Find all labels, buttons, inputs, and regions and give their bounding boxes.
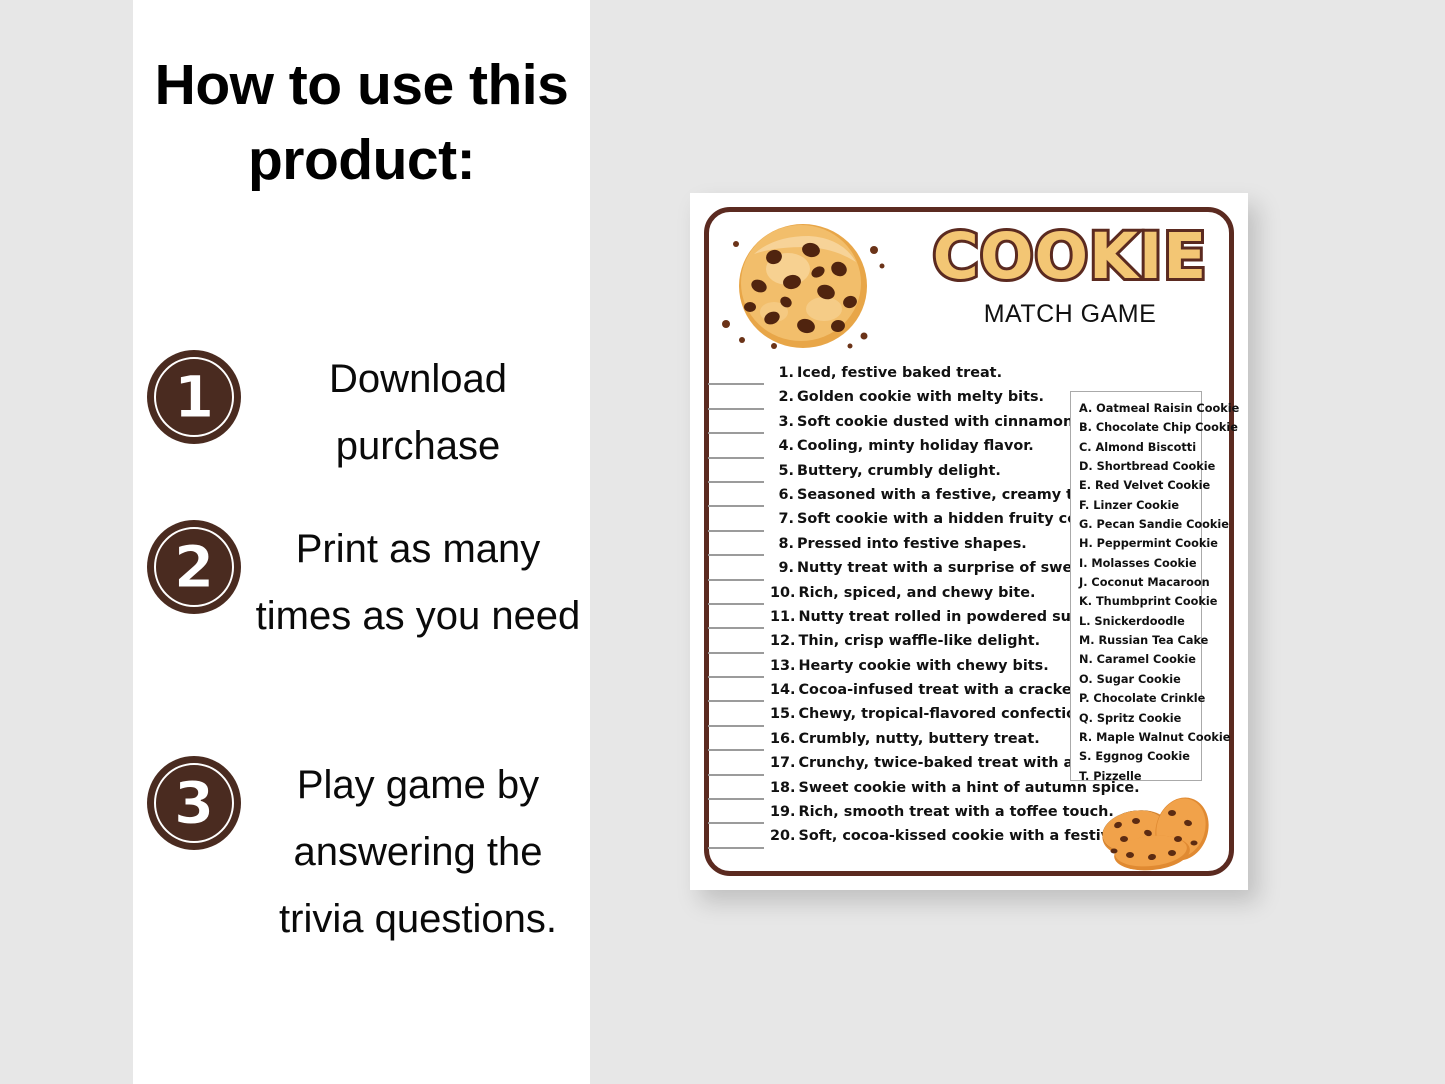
answer-blank[interactable] [708,665,764,678]
step-item-2: 2 Print as many times as you need [147,516,587,650]
page-title: How to use this product: [133,48,590,198]
answer-option: M. Russian Tea Cake [1079,631,1195,650]
question-text: Chewy, tropical-flavored confection. [796,706,1092,722]
answer-option: G. Pecan Sandie Cookie [1079,515,1195,534]
question-text: Pressed into festive shapes. [794,536,1078,552]
screenshot-root: How to use this product: 1 Download purc… [0,0,1445,1084]
question-number: 2. [770,389,794,405]
answer-option: B. Chocolate Chip Cookie [1079,418,1195,437]
question-row: 2.Golden cookie with melty bits. [708,389,1078,413]
question-number: 6. [770,487,794,503]
card-subtitle: MATCH GAME [915,300,1225,329]
answer-blank[interactable] [708,763,764,776]
question-number: 1. [770,365,794,381]
answer-blank[interactable] [708,738,764,751]
question-row: 9.Nutty treat with a surprise of sweetne… [708,560,1078,584]
answer-blank[interactable] [708,641,764,654]
answer-option: K. Thumbprint Cookie [1079,592,1195,611]
question-number: 5. [770,463,794,479]
answer-option: D. Shortbread Cookie [1079,457,1195,476]
chocolate-chip-cookie-icon [714,214,892,354]
question-number: 3. [770,414,794,430]
question-number: 16. [770,731,796,747]
question-row: 10.Rich, spiced, and chewy bite. [708,585,1078,609]
step-text-2: Print as many times as you need [241,516,587,650]
cookie-match-game-card: COOKIE MATCH GAME 1.Iced, festive baked … [690,193,1248,890]
question-row: 14.Cocoa-infused treat with a cracked ex… [708,682,1078,706]
answer-blank[interactable] [708,689,764,702]
question-text: Thin, crisp waffle-like delight. [796,633,1079,649]
question-number: 10. [770,585,796,601]
question-text: Golden cookie with melty bits. [794,389,1078,405]
step-number-2: 2 [174,538,214,596]
answer-blank[interactable] [708,397,764,410]
answer-blank[interactable] [708,592,764,605]
question-number: 20. [770,828,796,844]
cookie-stack-icon [1084,793,1224,873]
question-row: 19.Rich, smooth treat with a toffee touc… [708,804,1078,828]
question-number: 14. [770,682,796,698]
how-to-use-panel: How to use this product: 1 Download purc… [133,0,590,1084]
question-row: 20.Soft, cocoa-kissed cookie with a fest… [708,828,1078,852]
answer-option: N. Caramel Cookie [1079,650,1195,669]
question-text: Crumbly, nutty, buttery treat. [796,731,1079,747]
question-row: 6.Seasoned with a festive, creamy twist. [708,487,1078,511]
answer-blank[interactable] [708,616,764,629]
question-row: 13.Hearty cookie with chewy bits. [708,658,1078,682]
answer-blank[interactable] [708,714,764,727]
title-block: COOKIE MATCH GAME [915,225,1225,329]
question-text: Nutty treat rolled in powdered sugar. [796,609,1102,625]
question-row: 16.Crumbly, nutty, buttery treat. [708,731,1078,755]
answer-option: I. Molasses Cookie [1079,554,1195,573]
question-text: Hearty cookie with chewy bits. [796,658,1079,674]
question-number: 15. [770,706,796,722]
question-text: Iced, festive baked treat. [794,365,1078,381]
question-number: 8. [770,536,794,552]
answer-blank[interactable] [708,372,764,385]
answer-option: P. Chocolate Crinkle [1079,689,1195,708]
question-number: 12. [770,633,796,649]
answer-blank[interactable] [708,787,764,800]
step-badge-1: 1 [147,350,241,444]
answer-option: Q. Spritz Cookie [1079,709,1195,728]
answer-option: H. Peppermint Cookie [1079,534,1195,553]
answer-option: O. Sugar Cookie [1079,670,1195,689]
question-row: 12.Thin, crisp waffle-like delight. [708,633,1078,657]
question-text: Buttery, crumbly delight. [794,463,1078,479]
answer-blank[interactable] [708,446,764,459]
card-header: COOKIE MATCH GAME [690,193,1248,363]
question-number: 4. [770,438,794,454]
question-row: 11.Nutty treat rolled in powdered sugar. [708,609,1078,633]
question-number: 13. [770,658,796,674]
answer-option: R. Maple Walnut Cookie [1079,728,1195,747]
question-row: 7.Soft cookie with a hidden fruity cente… [708,511,1078,535]
question-row: 17.Crunchy, twice-baked treat with almon… [708,755,1078,779]
step-number-1: 1 [174,368,214,426]
step-number-3: 3 [174,774,214,832]
question-list: 1.Iced, festive baked treat.2.Golden coo… [708,365,1078,853]
question-text: Rich, spiced, and chewy bite. [796,585,1079,601]
card-title: COOKIE [915,225,1225,288]
answer-key-box: A. Oatmeal Raisin CookieB. Chocolate Chi… [1070,391,1202,781]
answer-option: T. Pizzelle [1079,767,1195,786]
question-row: 4.Cooling, minty holiday flavor. [708,438,1078,462]
step-text-3: Play game by answering the trivia questi… [241,752,587,954]
question-text: Cooling, minty holiday flavor. [794,438,1078,454]
answer-blank[interactable] [708,568,764,581]
answer-option: L. Snickerdoodle [1079,612,1195,631]
question-text: Rich, smooth treat with a toffee touch. [796,804,1114,820]
step-badge-3: 3 [147,756,241,850]
answer-blank[interactable] [708,519,764,532]
question-number: 17. [770,755,796,771]
answer-blank[interactable] [708,494,764,507]
step-item-3: 3 Play game by answering the trivia ques… [147,752,587,954]
step-badge-2: 2 [147,520,241,614]
question-text: Seasoned with a festive, creamy twist. [794,487,1112,503]
step-item-1: 1 Download purchase [147,346,587,480]
answer-blank[interactable] [708,470,764,483]
question-number: 19. [770,804,796,820]
question-row: 15.Chewy, tropical-flavored confection. [708,706,1078,730]
answer-blank[interactable] [708,836,764,849]
answer-option: C. Almond Biscotti [1079,438,1195,457]
question-row: 5.Buttery, crumbly delight. [708,463,1078,487]
question-row: 8.Pressed into festive shapes. [708,536,1078,560]
answer-blank[interactable] [708,421,764,434]
answer-option: F. Linzer Cookie [1079,496,1195,515]
answer-blank[interactable] [708,543,764,556]
step-text-1: Download purchase [241,346,587,480]
question-text: Soft cookie with a hidden fruity center. [794,511,1114,527]
question-number: 18. [770,780,796,796]
question-row: 3.Soft cookie dusted with cinnamon sugar… [708,414,1078,438]
question-number: 9. [770,560,794,576]
question-row: 18.Sweet cookie with a hint of autumn sp… [708,780,1078,804]
question-number: 11. [770,609,796,625]
question-number: 7. [770,511,794,527]
answer-option: J. Coconut Macaroon [1079,573,1195,592]
question-row: 1.Iced, festive baked treat. [708,365,1078,389]
answer-option: S. Eggnog Cookie [1079,747,1195,766]
answer-option: A. Oatmeal Raisin Cookie [1079,399,1195,418]
answer-option: E. Red Velvet Cookie [1079,476,1195,495]
answer-blank[interactable] [708,811,764,824]
